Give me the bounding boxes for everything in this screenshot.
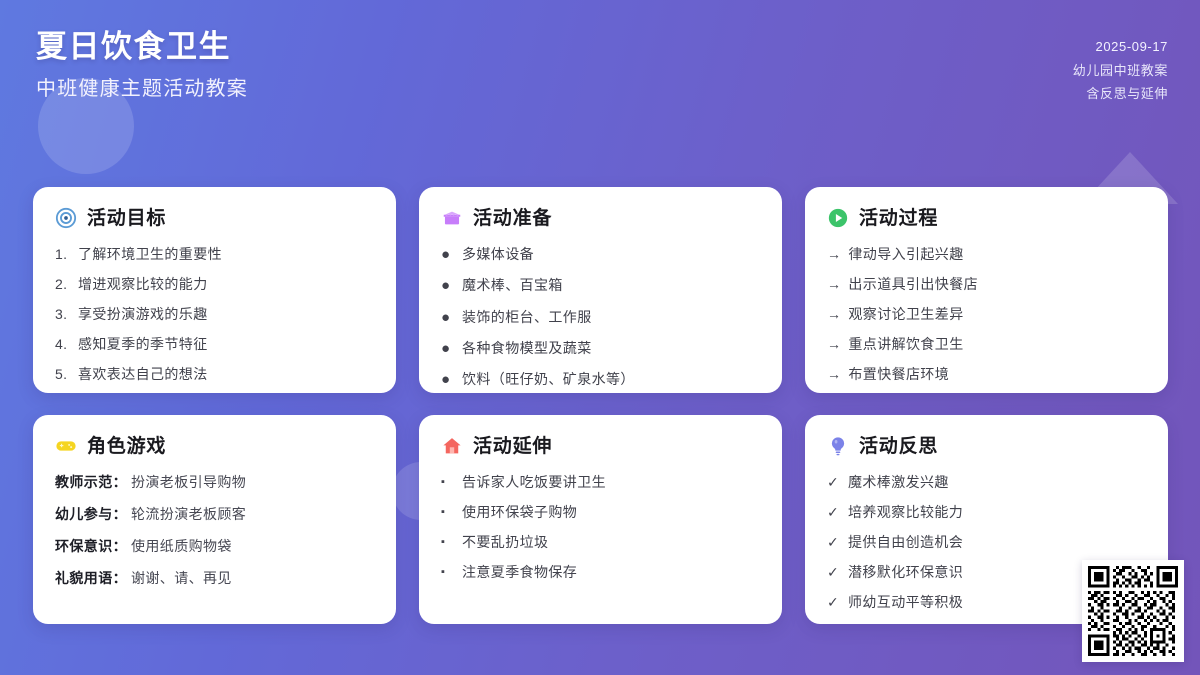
- list-item-text: 魔术棒、百宝箱: [462, 276, 563, 295]
- slide-root: 夏日饮食卫生 中班健康主题活动教案 2025-09-17 幼儿园中班教案 含反思…: [0, 0, 1200, 675]
- list-item: ▪注意夏季食物保存: [441, 563, 760, 582]
- list-marker: 5.: [55, 365, 71, 384]
- kv-key: 教师示范：: [55, 473, 127, 492]
- card-grid: 活动目标 1.了解环境卫生的重要性 2.增进观察比较的能力 3.享受扮演游戏的乐…: [33, 187, 1173, 624]
- list-item: 4.感知夏季的季节特征: [55, 335, 374, 354]
- list-marker: ▪: [441, 563, 455, 580]
- list-marker: 2.: [55, 275, 71, 294]
- home-icon: [441, 435, 463, 457]
- list-item: →布置快餐店环境: [827, 365, 1146, 384]
- list-marker: ●: [441, 245, 455, 265]
- lightbulb-icon: [827, 435, 849, 457]
- list-item-text: 享受扮演游戏的乐趣: [78, 305, 208, 324]
- list-item-text: 告诉家人吃饭要讲卫生: [462, 473, 606, 492]
- meta-note: 含反思与延伸: [1073, 85, 1168, 103]
- kv-key: 礼貌用语：: [55, 569, 127, 588]
- play-circle-icon: [827, 207, 849, 229]
- list-item: ▪不要乱扔垃圾: [441, 533, 760, 552]
- list-item-text: 感知夏季的季节特征: [78, 335, 208, 354]
- objectives-list: 1.了解环境卫生的重要性 2.增进观察比较的能力 3.享受扮演游戏的乐趣 4.感…: [55, 245, 374, 383]
- list-item-text: 装饰的柜台、工作服: [462, 308, 592, 327]
- list-item-text: 不要乱扔垃圾: [462, 533, 548, 552]
- kv-key: 幼儿参与：: [55, 505, 127, 524]
- list-marker: ✓: [827, 503, 841, 522]
- list-marker: ▪: [441, 503, 455, 520]
- list-item-text: 重点讲解饮食卫生: [848, 335, 963, 354]
- page-title: 夏日饮食卫生: [36, 28, 248, 67]
- list-marker: 4.: [55, 335, 71, 354]
- role-play-list: 教师示范：扮演老板引导购物 幼儿参与：轮流扮演老板顾客 环保意识：使用纸质购物袋…: [55, 473, 374, 588]
- list-marker: ●: [441, 276, 455, 296]
- list-item-text: 律动导入引起兴趣: [848, 245, 963, 264]
- qr-code[interactable]: [1082, 560, 1184, 662]
- card-header: 角色游戏: [55, 435, 374, 457]
- list-item: 幼儿参与：轮流扮演老板顾客: [55, 505, 374, 524]
- list-marker: →: [827, 305, 841, 324]
- card-process[interactable]: 活动过程 →律动导入引起兴趣 →出示道具引出快餐店 →观察讨论卫生差异 →重点讲…: [805, 187, 1168, 393]
- list-marker: ●: [441, 339, 455, 359]
- card-title: 活动目标: [87, 209, 166, 228]
- list-item: ✓培养观察比较能力: [827, 503, 1146, 522]
- slide-header: 夏日饮食卫生 中班健康主题活动教案 2025-09-17 幼儿园中班教案 含反思…: [0, 0, 1200, 150]
- kv-value: 轮流扮演老板顾客: [131, 505, 246, 524]
- list-marker: ●: [441, 370, 455, 390]
- card-header: 活动目标: [55, 207, 374, 229]
- list-item-text: 各种食物模型及蔬菜: [462, 339, 592, 358]
- list-item: ✓提供自由创造机会: [827, 533, 1146, 552]
- card-header: 活动准备: [441, 207, 760, 229]
- list-marker: →: [827, 335, 841, 354]
- list-marker: →: [827, 245, 841, 264]
- preparation-list: ●多媒体设备 ●魔术棒、百宝箱 ●装饰的柜台、工作服 ●各种食物模型及蔬菜 ●饮…: [441, 245, 760, 390]
- list-marker: ▪: [441, 473, 455, 490]
- page-subtitle: 中班健康主题活动教案: [36, 76, 248, 102]
- header-title-block: 夏日饮食卫生 中班健康主题活动教案: [36, 28, 248, 102]
- list-item: 1.了解环境卫生的重要性: [55, 245, 374, 264]
- card-title: 活动准备: [473, 209, 552, 228]
- list-item-text: 多媒体设备: [462, 245, 534, 264]
- list-marker: ✓: [827, 533, 841, 552]
- card-title: 活动反思: [859, 437, 938, 456]
- card-objectives[interactable]: 活动目标 1.了解环境卫生的重要性 2.增进观察比较的能力 3.享受扮演游戏的乐…: [33, 187, 396, 393]
- list-item: 3.享受扮演游戏的乐趣: [55, 305, 374, 324]
- list-item-text: 喜欢表达自己的想法: [78, 365, 208, 384]
- list-item: 环保意识：使用纸质购物袋: [55, 537, 374, 556]
- list-item: →观察讨论卫生差异: [827, 305, 1146, 324]
- card-role-play[interactable]: 角色游戏 教师示范：扮演老板引导购物 幼儿参与：轮流扮演老板顾客 环保意识：使用…: [33, 415, 396, 624]
- list-marker: 1.: [55, 245, 71, 264]
- list-marker: ●: [441, 308, 455, 328]
- list-item-text: 布置快餐店环境: [848, 365, 949, 384]
- card-title: 角色游戏: [87, 437, 166, 456]
- list-marker: ✓: [827, 593, 841, 612]
- list-marker: ✓: [827, 473, 841, 492]
- process-list: →律动导入引起兴趣 →出示道具引出快餐店 →观察讨论卫生差异 →重点讲解饮食卫生…: [827, 245, 1146, 383]
- list-item-text: 了解环境卫生的重要性: [78, 245, 222, 264]
- list-marker: ✓: [827, 563, 841, 582]
- list-item: ●魔术棒、百宝箱: [441, 276, 760, 296]
- list-item-text: 出示道具引出快餐店: [848, 275, 978, 294]
- list-item: 5.喜欢表达自己的想法: [55, 365, 374, 384]
- extension-list: ▪告诉家人吃饭要讲卫生 ▪使用环保袋子购物 ▪不要乱扔垃圾 ▪注意夏季食物保存: [441, 473, 760, 582]
- list-item-text: 饮料（旺仔奶、矿泉水等）: [462, 370, 635, 389]
- card-preparation[interactable]: 活动准备 ●多媒体设备 ●魔术棒、百宝箱 ●装饰的柜台、工作服 ●各种食物模型及…: [419, 187, 782, 393]
- list-item: ●多媒体设备: [441, 245, 760, 265]
- list-item: →重点讲解饮食卫生: [827, 335, 1146, 354]
- card-header: 活动反思: [827, 435, 1146, 457]
- list-item: 教师示范：扮演老板引导购物: [55, 473, 374, 492]
- qr-code-image: [1088, 566, 1178, 656]
- kv-value: 扮演老板引导购物: [131, 473, 246, 492]
- list-marker: ▪: [441, 533, 455, 550]
- card-extension[interactable]: 活动延伸 ▪告诉家人吃饭要讲卫生 ▪使用环保袋子购物 ▪不要乱扔垃圾 ▪注意夏季…: [419, 415, 782, 624]
- list-item: ●各种食物模型及蔬菜: [441, 339, 760, 359]
- list-item: ●饮料（旺仔奶、矿泉水等）: [441, 370, 760, 390]
- meta-category: 幼儿园中班教案: [1073, 62, 1168, 80]
- list-item-text: 注意夏季食物保存: [462, 563, 577, 582]
- card-title: 活动过程: [859, 209, 938, 228]
- list-item: ▪使用环保袋子购物: [441, 503, 760, 522]
- card-header: 活动过程: [827, 207, 1146, 229]
- target-icon: [55, 207, 77, 229]
- list-item: 2.增进观察比较的能力: [55, 275, 374, 294]
- meta-date: 2025-09-17: [1073, 38, 1168, 56]
- list-marker: →: [827, 365, 841, 384]
- list-item-text: 观察讨论卫生差异: [848, 305, 963, 324]
- header-meta: 2025-09-17 幼儿园中班教案 含反思与延伸: [1073, 28, 1168, 103]
- list-item-text: 增进观察比较的能力: [78, 275, 208, 294]
- list-item-text: 培养观察比较能力: [848, 503, 963, 522]
- list-marker: →: [827, 275, 841, 294]
- kv-value: 谢谢、请、再见: [131, 569, 232, 588]
- list-item: ▪告诉家人吃饭要讲卫生: [441, 473, 760, 492]
- kv-key: 环保意识：: [55, 537, 127, 556]
- list-marker: 3.: [55, 305, 71, 324]
- list-item-text: 提供自由创造机会: [848, 533, 963, 552]
- gamepad-icon: [55, 435, 77, 457]
- list-item: →出示道具引出快餐店: [827, 275, 1146, 294]
- list-item: →律动导入引起兴趣: [827, 245, 1146, 264]
- card-header: 活动延伸: [441, 435, 760, 457]
- list-item: ✓魔术棒激发兴趣: [827, 473, 1146, 492]
- list-item: ●装饰的柜台、工作服: [441, 308, 760, 328]
- list-item-text: 魔术棒激发兴趣: [848, 473, 949, 492]
- kv-value: 使用纸质购物袋: [131, 537, 232, 556]
- list-item-text: 潜移默化环保意识: [848, 563, 963, 582]
- list-item: 礼貌用语：谢谢、请、再见: [55, 569, 374, 588]
- list-item-text: 使用环保袋子购物: [462, 503, 577, 522]
- list-item-text: 师幼互动平等积极: [848, 593, 963, 612]
- box-icon: [441, 207, 463, 229]
- card-title: 活动延伸: [473, 437, 552, 456]
